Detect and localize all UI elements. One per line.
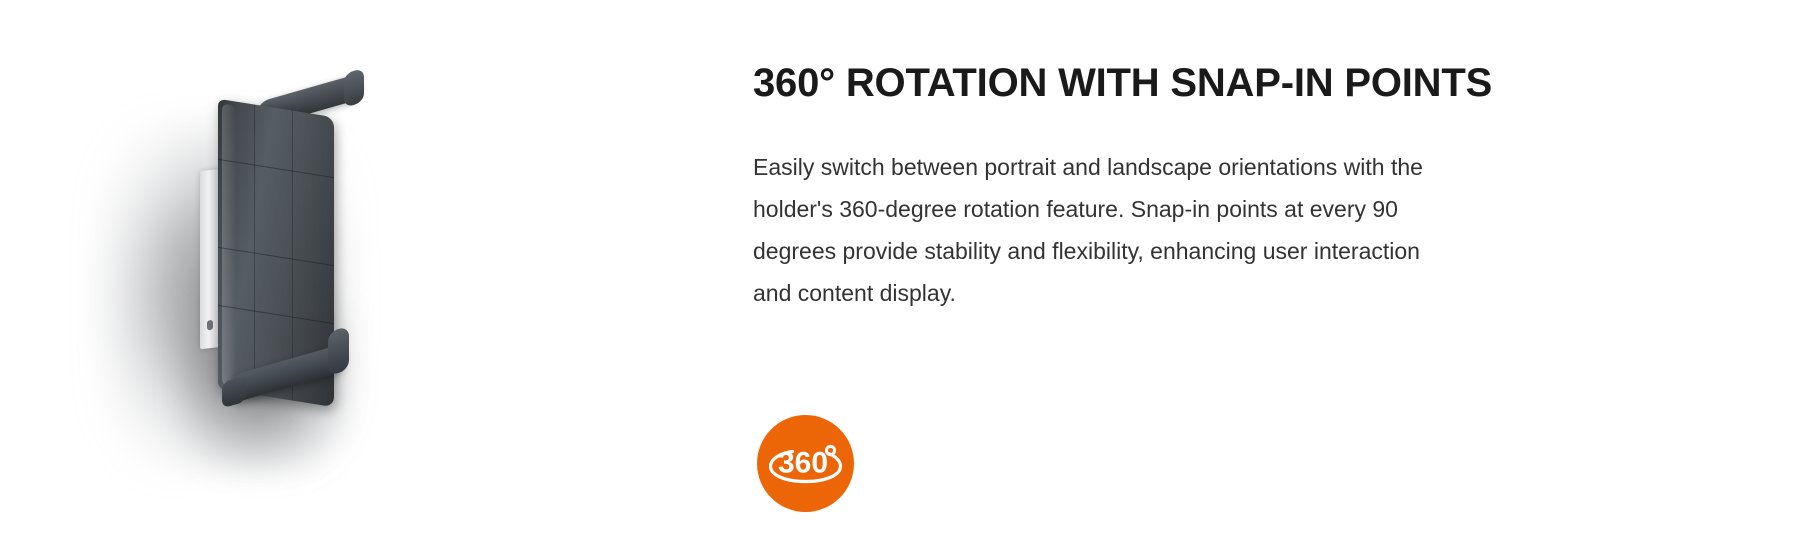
- feature-panel: 360° ROTATION WITH SNAP-IN POINTS Easily…: [0, 0, 1796, 560]
- product-image: [0, 0, 720, 560]
- feature-title: 360° ROTATION WITH SNAP-IN POINTS: [753, 59, 1492, 107]
- feature-description: Easily switch between portrait and lands…: [753, 146, 1453, 314]
- holder-highlight: [222, 103, 236, 387]
- 360-degree-rotation-badge-icon: 360: [757, 415, 854, 512]
- svg-text:360: 360: [778, 447, 828, 480]
- feature-badge-row: 360: [753, 360, 1153, 520]
- holder-top-clamp-tip: [344, 68, 364, 108]
- mount-screw: [207, 320, 213, 331]
- product-render-stage: [60, 30, 660, 530]
- holder-panel-line: [254, 105, 255, 395]
- feature-content: 360° ROTATION WITH SNAP-IN POINTS Easily…: [753, 0, 1713, 560]
